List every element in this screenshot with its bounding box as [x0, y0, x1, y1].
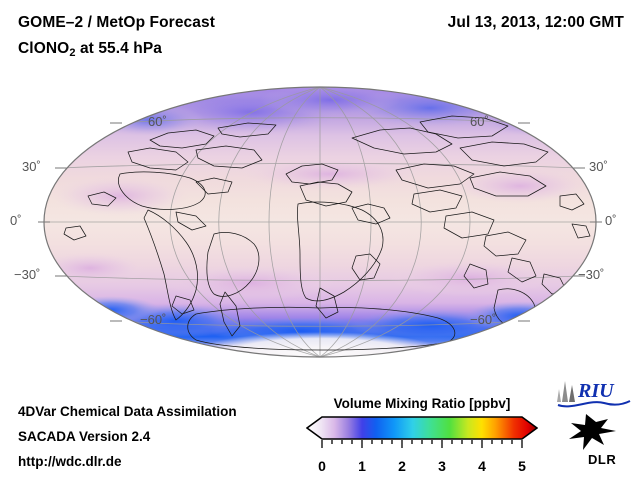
species-subtitle: ClONO2 at 55.4 hPa — [18, 40, 162, 59]
lat-label-left-0: 0˚ — [10, 213, 22, 228]
lat-label-right-60: 60˚ — [470, 114, 489, 129]
footer-url-link[interactable]: http://wdc.dlr.de — [18, 454, 122, 469]
species-level: at 55.4 hPa — [76, 40, 163, 57]
colorbar-gradient-bar — [307, 417, 537, 439]
map-plot: 60˚ 30˚ 0˚ −30˚ −60˚ 60˚ 30˚ 0˚ −30˚ −60… — [0, 78, 640, 378]
colorbar-svg — [306, 415, 538, 457]
riu-tower-icon — [562, 381, 568, 402]
page-title: GOME–2 / MetOp Forecast — [18, 14, 215, 32]
riu-tower3-icon — [557, 389, 561, 402]
colorbar-tick-label-2: 2 — [398, 458, 406, 474]
riu-logo: RIU — [556, 376, 632, 410]
datetime-label: Jul 13, 2013, 12:00 GMT — [448, 14, 624, 32]
dlr-logo-icon — [566, 412, 620, 454]
colorbar-ticks — [322, 440, 522, 448]
colorbar-tick-label-4: 4 — [478, 458, 486, 474]
colorbar: Volume Mixing Ratio [ppbv] 012345 — [306, 396, 538, 478]
riu-logo-text: RIU — [577, 380, 615, 402]
colorbar-tick-label-5: 5 — [518, 458, 526, 474]
dlr-logo-text: DLR — [588, 452, 616, 467]
footer-assimilation-label: 4DVar Chemical Data Assimilation — [18, 404, 237, 419]
colorbar-tick-label-1: 1 — [358, 458, 366, 474]
lat-label-left-60: 60˚ — [148, 114, 167, 129]
colorbar-tick-label-3: 3 — [438, 458, 446, 474]
lat-label-right-m30: −30˚ — [578, 267, 604, 282]
riu-tower2-icon — [569, 385, 575, 402]
colorbar-title: Volume Mixing Ratio [ppbv] — [306, 396, 538, 411]
lat-label-right-30: 30˚ — [589, 159, 608, 174]
colorbar-tick-labels: 012345 — [306, 458, 538, 478]
footer-version-label: SACADA Version 2.4 — [18, 429, 150, 444]
mollweide-map-svg — [0, 78, 640, 378]
lat-label-right-m60: −60˚ — [470, 312, 496, 327]
riu-wave-icon — [558, 401, 630, 406]
lat-label-left-m60: −60˚ — [140, 312, 166, 327]
lat-label-left-30: 30˚ — [22, 159, 41, 174]
lat-label-left-m30: −30˚ — [14, 267, 40, 282]
species-name: ClONO — [18, 40, 69, 57]
map-data-field — [35, 84, 600, 376]
dlr-bird-icon — [569, 414, 616, 450]
colorbar-tick-label-0: 0 — [318, 458, 326, 474]
lat-label-right-0: 0˚ — [605, 213, 617, 228]
